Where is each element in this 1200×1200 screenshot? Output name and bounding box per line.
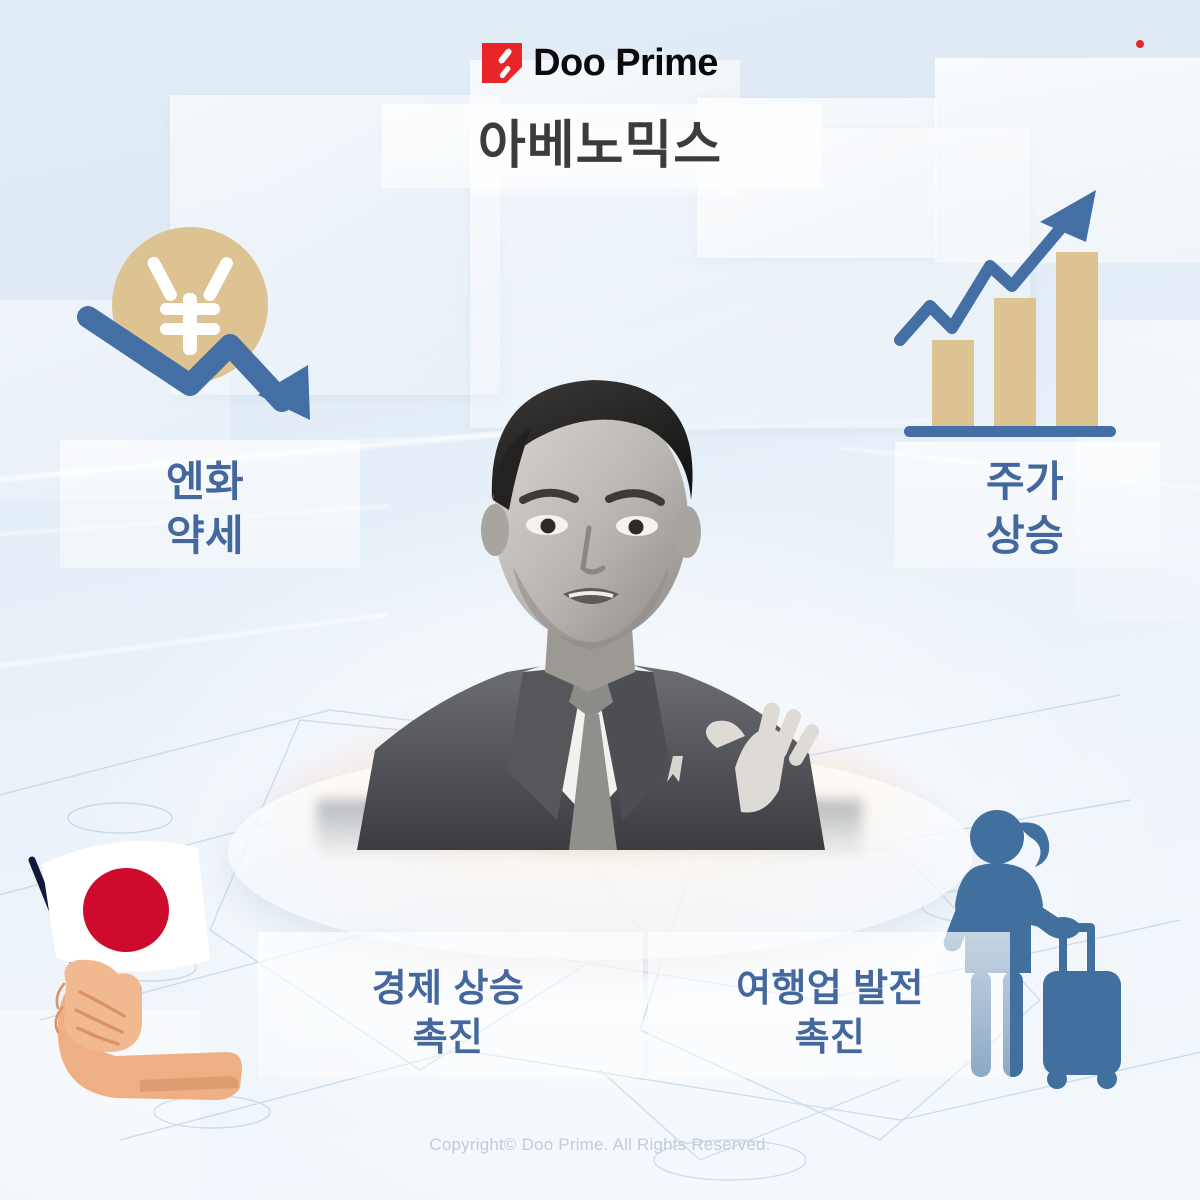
economy-boost-label: 경제 상승 촉진 [258, 965, 638, 1062]
rising-bar-chart-icon [890, 180, 1140, 455]
doo-prime-pen-mark-icon [482, 43, 522, 83]
tourism-label-line2: 촉진 [650, 1014, 1010, 1063]
chart-bar-3 [1056, 252, 1098, 428]
stock-label-line1: 주가 [900, 455, 1150, 509]
chart-bar-2 [994, 298, 1036, 428]
tourism-label-line1: 여행업 발전 [650, 965, 1010, 1014]
chart-baseline [904, 426, 1116, 437]
page-title: 아베노믹스 [0, 108, 1200, 184]
economy-label-line2: 촉진 [258, 1014, 638, 1063]
stock-rise-label: 주가 상승 [900, 455, 1150, 563]
yen-label-line1: 엔화 [60, 455, 350, 509]
chart-bar-1 [932, 340, 974, 428]
logo-accent-dot [1136, 40, 1144, 48]
yen-coin-down-arrow-icon [72, 205, 332, 440]
yen-weak-label: 엔화 약세 [60, 455, 350, 563]
brand-logo-text: Doo Prime [533, 44, 718, 82]
stock-label-line2: 상승 [900, 509, 1150, 563]
hand-holding-japan-flag-icon [20, 812, 255, 1102]
infographic-poster: Doo Prime 아베노믹스 엔화 약세 [0, 0, 1200, 1200]
shinzo-abe-portrait [317, 350, 862, 850]
brand-logo: Doo Prime [0, 43, 1200, 83]
economy-label-line1: 경제 상승 [258, 965, 638, 1014]
copyright-footer: Copyright© Doo Prime. All Rights Reserve… [0, 1135, 1200, 1155]
yen-label-line2: 약세 [60, 509, 350, 563]
tourism-boost-label: 여행업 발전 촉진 [650, 965, 1010, 1062]
